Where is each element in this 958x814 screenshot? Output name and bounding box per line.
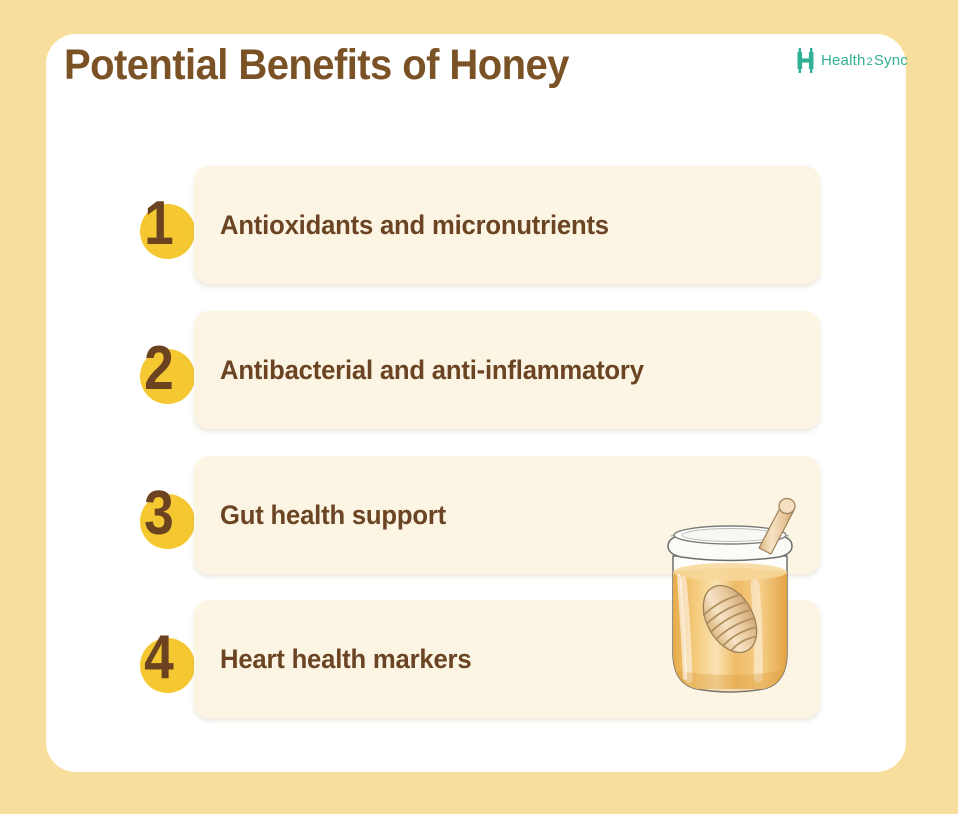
benefit-item-3: 3 Gut health support — [120, 456, 820, 574]
benefit-item-4: 4 Heart health markers — [120, 600, 820, 718]
brand-name-start: Health — [821, 52, 866, 69]
benefit-card-4: Heart health markers — [194, 600, 820, 718]
brand-logo: Health2Sync — [797, 48, 908, 73]
brand-name-mid: 2 — [866, 56, 874, 68]
brand-name-end: Sync — [874, 52, 908, 69]
benefit-item-2: 2 Antibacterial and anti-inflammatory — [120, 311, 820, 429]
badge-number-1: 1 — [125, 178, 192, 274]
benefit-label-2: Antibacterial and anti-inflammatory — [220, 311, 644, 429]
benefit-card-3: Gut health support — [194, 456, 820, 574]
h-cross-logo-icon — [797, 48, 814, 73]
brand-name: Health2Sync — [821, 52, 908, 69]
benefit-label-1: Antioxidants and micronutrients — [220, 166, 609, 284]
infographic-poster: Potential Benefits of Honey Health2Sync — [0, 0, 958, 814]
benefit-card-1: Antioxidants and micronutrients — [194, 166, 820, 284]
benefit-item-1: 1 Antioxidants and micronutrients — [120, 166, 820, 284]
badge-number-2: 2 — [125, 323, 192, 419]
badge-number-3: 3 — [125, 468, 192, 564]
page-title: Potential Benefits of Honey — [64, 36, 569, 94]
header: Potential Benefits of Honey Health2Sync — [64, 36, 918, 106]
benefit-label-3: Gut health support — [220, 456, 446, 574]
benefits-list: 1 Antioxidants and micronutrients 2 Anti… — [0, 166, 958, 726]
badge-number-4: 4 — [125, 612, 192, 708]
benefit-card-2: Antibacterial and anti-inflammatory — [194, 311, 820, 429]
benefit-label-4: Heart health markers — [220, 600, 471, 718]
